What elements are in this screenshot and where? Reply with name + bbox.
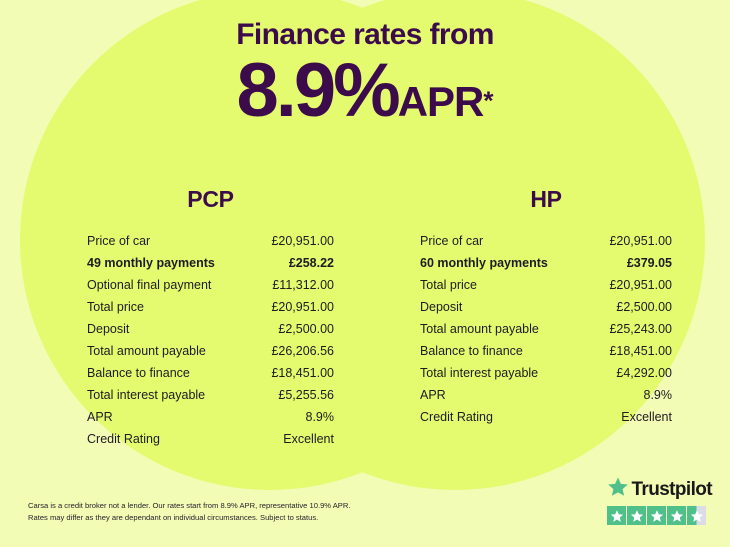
row-value: £2,500.00: [278, 318, 334, 340]
trustpilot-logo: Trustpilot: [607, 476, 712, 503]
table-row: Total price £20,951.00: [87, 296, 334, 318]
row-label: Balance to finance: [420, 340, 523, 362]
trustpilot-star-icon: [607, 476, 629, 503]
table-hp-title: HP: [420, 186, 672, 213]
disclaimer-line-1: Carsa is a credit broker not a lender. O…: [28, 500, 458, 513]
trustpilot-star-4: [667, 506, 686, 525]
row-value: 8.9%: [306, 406, 335, 428]
table-row: APR 8.9%: [420, 384, 672, 406]
row-value: Excellent: [283, 428, 334, 450]
row-label: Price of car: [420, 230, 483, 252]
row-value: £2,500.00: [616, 296, 672, 318]
trustpilot-star-1: [607, 506, 626, 525]
table-row: Total interest payable £5,255.56: [87, 384, 334, 406]
row-label: Total interest payable: [87, 384, 205, 406]
table-row: Price of car £20,951.00: [87, 230, 334, 252]
table-row: Total amount payable £26,206.56: [87, 340, 334, 362]
rate-line: 8.9%APR*: [0, 51, 730, 129]
row-value: £20,951.00: [271, 296, 334, 318]
row-label: Optional final payment: [87, 274, 211, 296]
row-value: £20,951.00: [609, 274, 672, 296]
row-label: Total price: [87, 296, 144, 318]
table-row: 60 monthly payments £379.05: [420, 252, 672, 274]
table-row: Deposit £2,500.00: [87, 318, 334, 340]
row-label: Deposit: [420, 296, 462, 318]
row-value: £5,255.56: [278, 384, 334, 406]
row-label: 60 monthly payments: [420, 252, 548, 274]
row-label: Total interest payable: [420, 362, 538, 384]
row-label: Credit Rating: [420, 406, 493, 428]
table-row: 49 monthly payments £258.22: [87, 252, 334, 274]
table-row: Credit Rating Excellent: [87, 428, 334, 450]
table-row: Total interest payable £4,292.00: [420, 362, 672, 384]
row-value: £25,243.00: [609, 318, 672, 340]
row-value: £20,951.00: [271, 230, 334, 252]
row-value: Excellent: [621, 406, 672, 428]
promo-banner: Finance rates from 8.9%APR* PCP Price of…: [0, 0, 730, 547]
table-row: Total amount payable £25,243.00: [420, 318, 672, 340]
trustpilot-stars: [607, 506, 712, 525]
trustpilot-star-2: [627, 506, 646, 525]
row-value: £18,451.00: [609, 340, 672, 362]
row-label: 49 monthly payments: [87, 252, 215, 274]
table-row: Optional final payment £11,312.00: [87, 274, 334, 296]
row-value: £20,951.00: [609, 230, 672, 252]
trustpilot-rating: Trustpilot: [607, 476, 712, 525]
rate-asterisk: *: [483, 86, 493, 116]
row-label: APR: [420, 384, 446, 406]
table-row: Total price £20,951.00: [420, 274, 672, 296]
row-value: £258.22: [289, 252, 334, 274]
row-label: Total amount payable: [420, 318, 539, 340]
trustpilot-star-3: [647, 506, 666, 525]
row-value: £379.05: [627, 252, 672, 274]
table-row: Balance to finance £18,451.00: [87, 362, 334, 384]
row-label: Total amount payable: [87, 340, 206, 362]
row-label: Deposit: [87, 318, 129, 340]
row-label: Credit Rating: [87, 428, 160, 450]
page-title: Finance rates from: [0, 0, 730, 51]
table-row: Credit Rating Excellent: [420, 406, 672, 428]
table-row: APR 8.9%: [87, 406, 334, 428]
row-label: Price of car: [87, 230, 150, 252]
table-hp: HP Price of car £20,951.00 60 monthly pa…: [365, 186, 730, 450]
row-value: 8.9%: [644, 384, 673, 406]
row-label: Balance to finance: [87, 362, 190, 384]
table-pcp: PCP Price of car £20,951.00 49 monthly p…: [0, 186, 365, 450]
row-value: £26,206.56: [271, 340, 334, 362]
banner-header: Finance rates from 8.9%APR*: [0, 0, 730, 129]
trustpilot-star-5: [687, 506, 706, 525]
row-value: £18,451.00: [271, 362, 334, 384]
rate-value: 8.9%: [236, 48, 397, 133]
trustpilot-wordmark: Trustpilot: [631, 479, 712, 501]
table-row: Balance to finance £18,451.00: [420, 340, 672, 362]
disclaimer: Carsa is a credit broker not a lender. O…: [28, 500, 458, 525]
disclaimer-line-2: Rates may differ as they are dependant o…: [28, 512, 458, 525]
row-value: £4,292.00: [616, 362, 672, 384]
table-pcp-title: PCP: [87, 186, 334, 213]
table-row: Price of car £20,951.00: [420, 230, 672, 252]
rate-unit: APR: [398, 78, 484, 125]
row-value: £11,312.00: [272, 274, 334, 296]
row-label: APR: [87, 406, 113, 428]
finance-tables: PCP Price of car £20,951.00 49 monthly p…: [0, 186, 730, 450]
table-row: Deposit £2,500.00: [420, 296, 672, 318]
row-label: Total price: [420, 274, 477, 296]
